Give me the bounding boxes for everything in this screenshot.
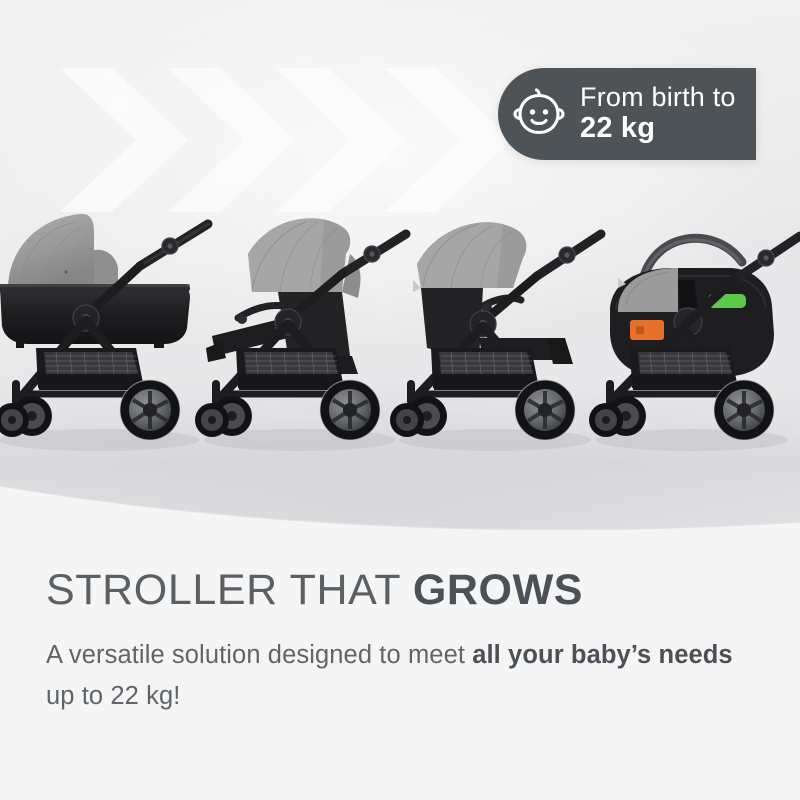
- copy-section: STROLLER THAT GROWS A versatile solution…: [0, 530, 800, 800]
- subcopy-part-two: up to 22 kg!: [46, 682, 180, 710]
- subheadline: A versatile solution designed to meet al…: [46, 635, 746, 718]
- hero-photo-area: From birth to 22 kg: [0, 0, 800, 530]
- badge-line-two: 22 kg: [580, 113, 736, 144]
- product-marketing-image: From birth to 22 kg STROLLER THAT GROWS …: [0, 0, 800, 800]
- baby-face-icon: [512, 87, 566, 141]
- badge-text-group: From birth to 22 kg: [580, 83, 736, 144]
- badge-line-one: From birth to: [580, 83, 736, 112]
- age-weight-badge: From birth to 22 kg: [498, 68, 756, 160]
- headline-light: STROLLER THAT: [46, 566, 413, 614]
- subcopy-part-one: A versatile solution designed to meet: [46, 641, 472, 669]
- page-title: STROLLER THAT GROWS: [46, 566, 583, 615]
- subcopy-bold: all your baby’s needs: [472, 641, 733, 669]
- stroller-figure-infant-car-seat: [582, 188, 800, 458]
- stroller-figure-rear-facing-seat: [192, 188, 412, 458]
- section-divider: [0, 430, 800, 530]
- stroller-figure-forward-facing-seat: [387, 188, 607, 458]
- headline-bold: GROWS: [413, 566, 583, 614]
- stroller-figure-carrycot: [0, 188, 214, 458]
